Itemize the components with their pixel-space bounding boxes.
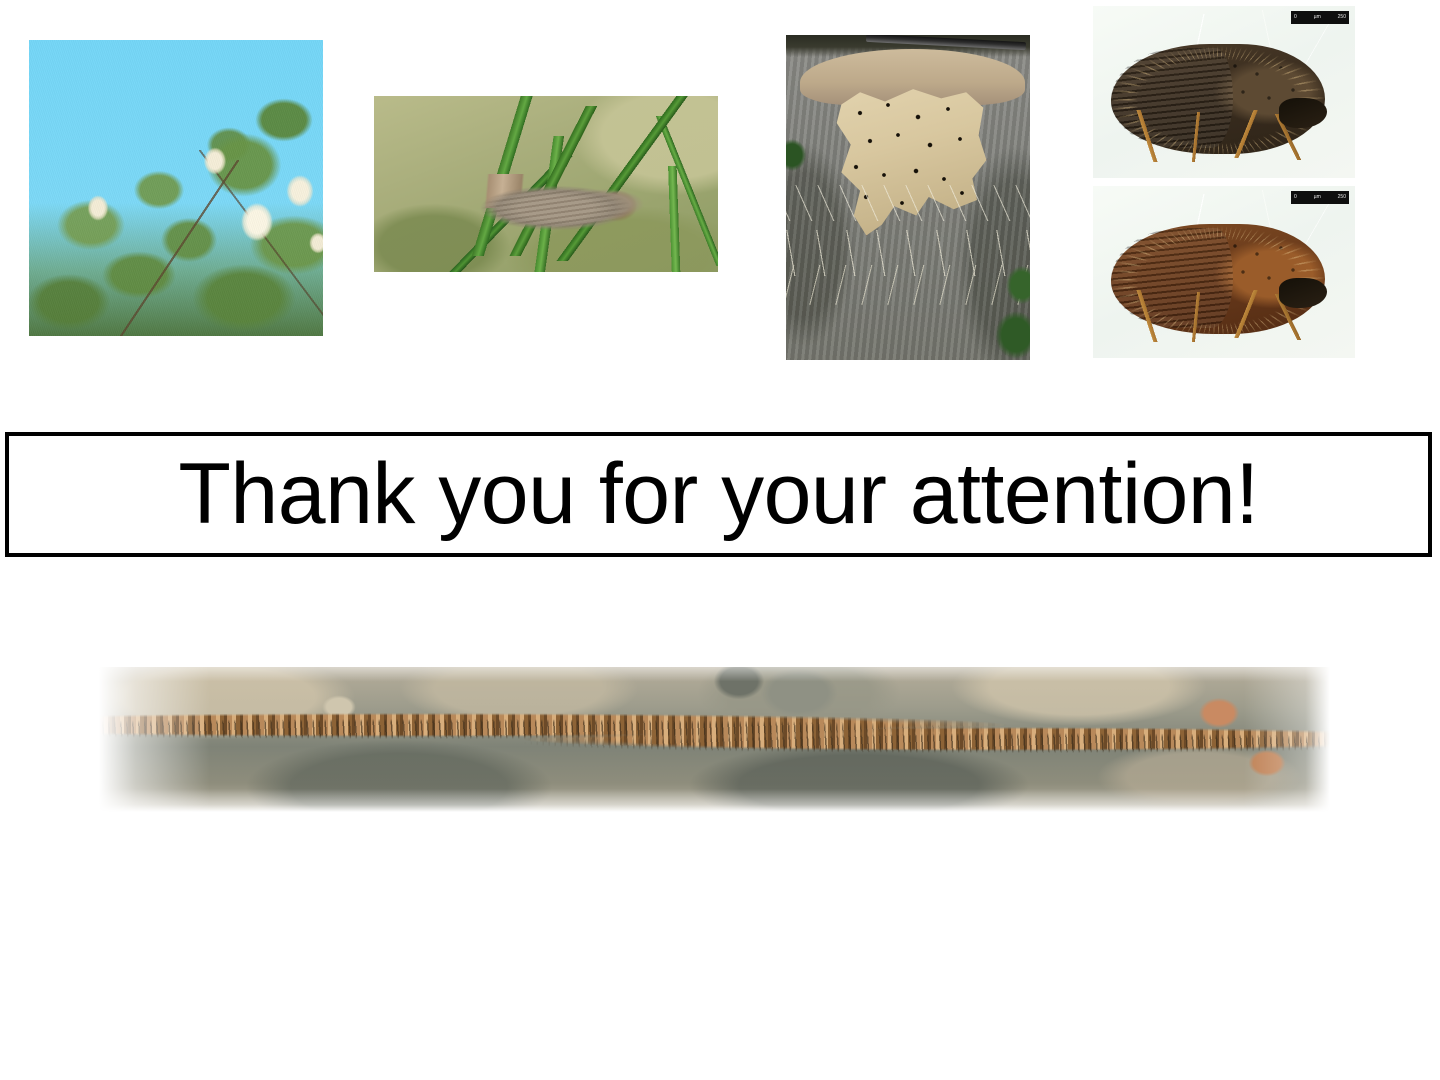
scale-bar-red-beetle: 0 µm 250 <box>1291 191 1349 204</box>
moth-wing-texture-layer <box>374 96 718 272</box>
thank-you-text-box[interactable]: Thank you for your attention! <box>5 432 1432 557</box>
scale-bar-unit-label: µm <box>1314 15 1321 20</box>
scale-bar-dark-beetle: 0 µm 250 <box>1291 11 1349 24</box>
scale-bar-left-label: 0 <box>1294 195 1297 200</box>
image-bark-beetle-red-specimen[interactable]: 0 µm 250 <box>1093 186 1355 358</box>
presentation-slide: 0 µm 250 0 µm 250 Thank you for your att… <box>0 0 1440 1080</box>
scale-bar-right-label: 250 <box>1338 15 1346 20</box>
image-adult-moth-on-pine-needles[interactable] <box>374 96 718 272</box>
scale-bar-unit-label: µm <box>1314 195 1321 200</box>
surrounding-foliage-layer <box>786 35 1030 360</box>
scale-bar-right-label: 250 <box>1338 195 1346 200</box>
thank-you-message: Thank you for your attention! <box>178 449 1258 539</box>
soft-edge-vignette <box>99 667 1330 812</box>
photo-grain-overlay <box>29 40 323 336</box>
image-caterpillar-procession[interactable] <box>99 667 1330 812</box>
image-stump-with-beetle-holes[interactable] <box>786 35 1030 360</box>
image-pine-canopy-with-nests[interactable] <box>29 40 323 336</box>
image-bark-beetle-dark-specimen[interactable]: 0 µm 250 <box>1093 6 1355 178</box>
scale-bar-left-label: 0 <box>1294 15 1297 20</box>
